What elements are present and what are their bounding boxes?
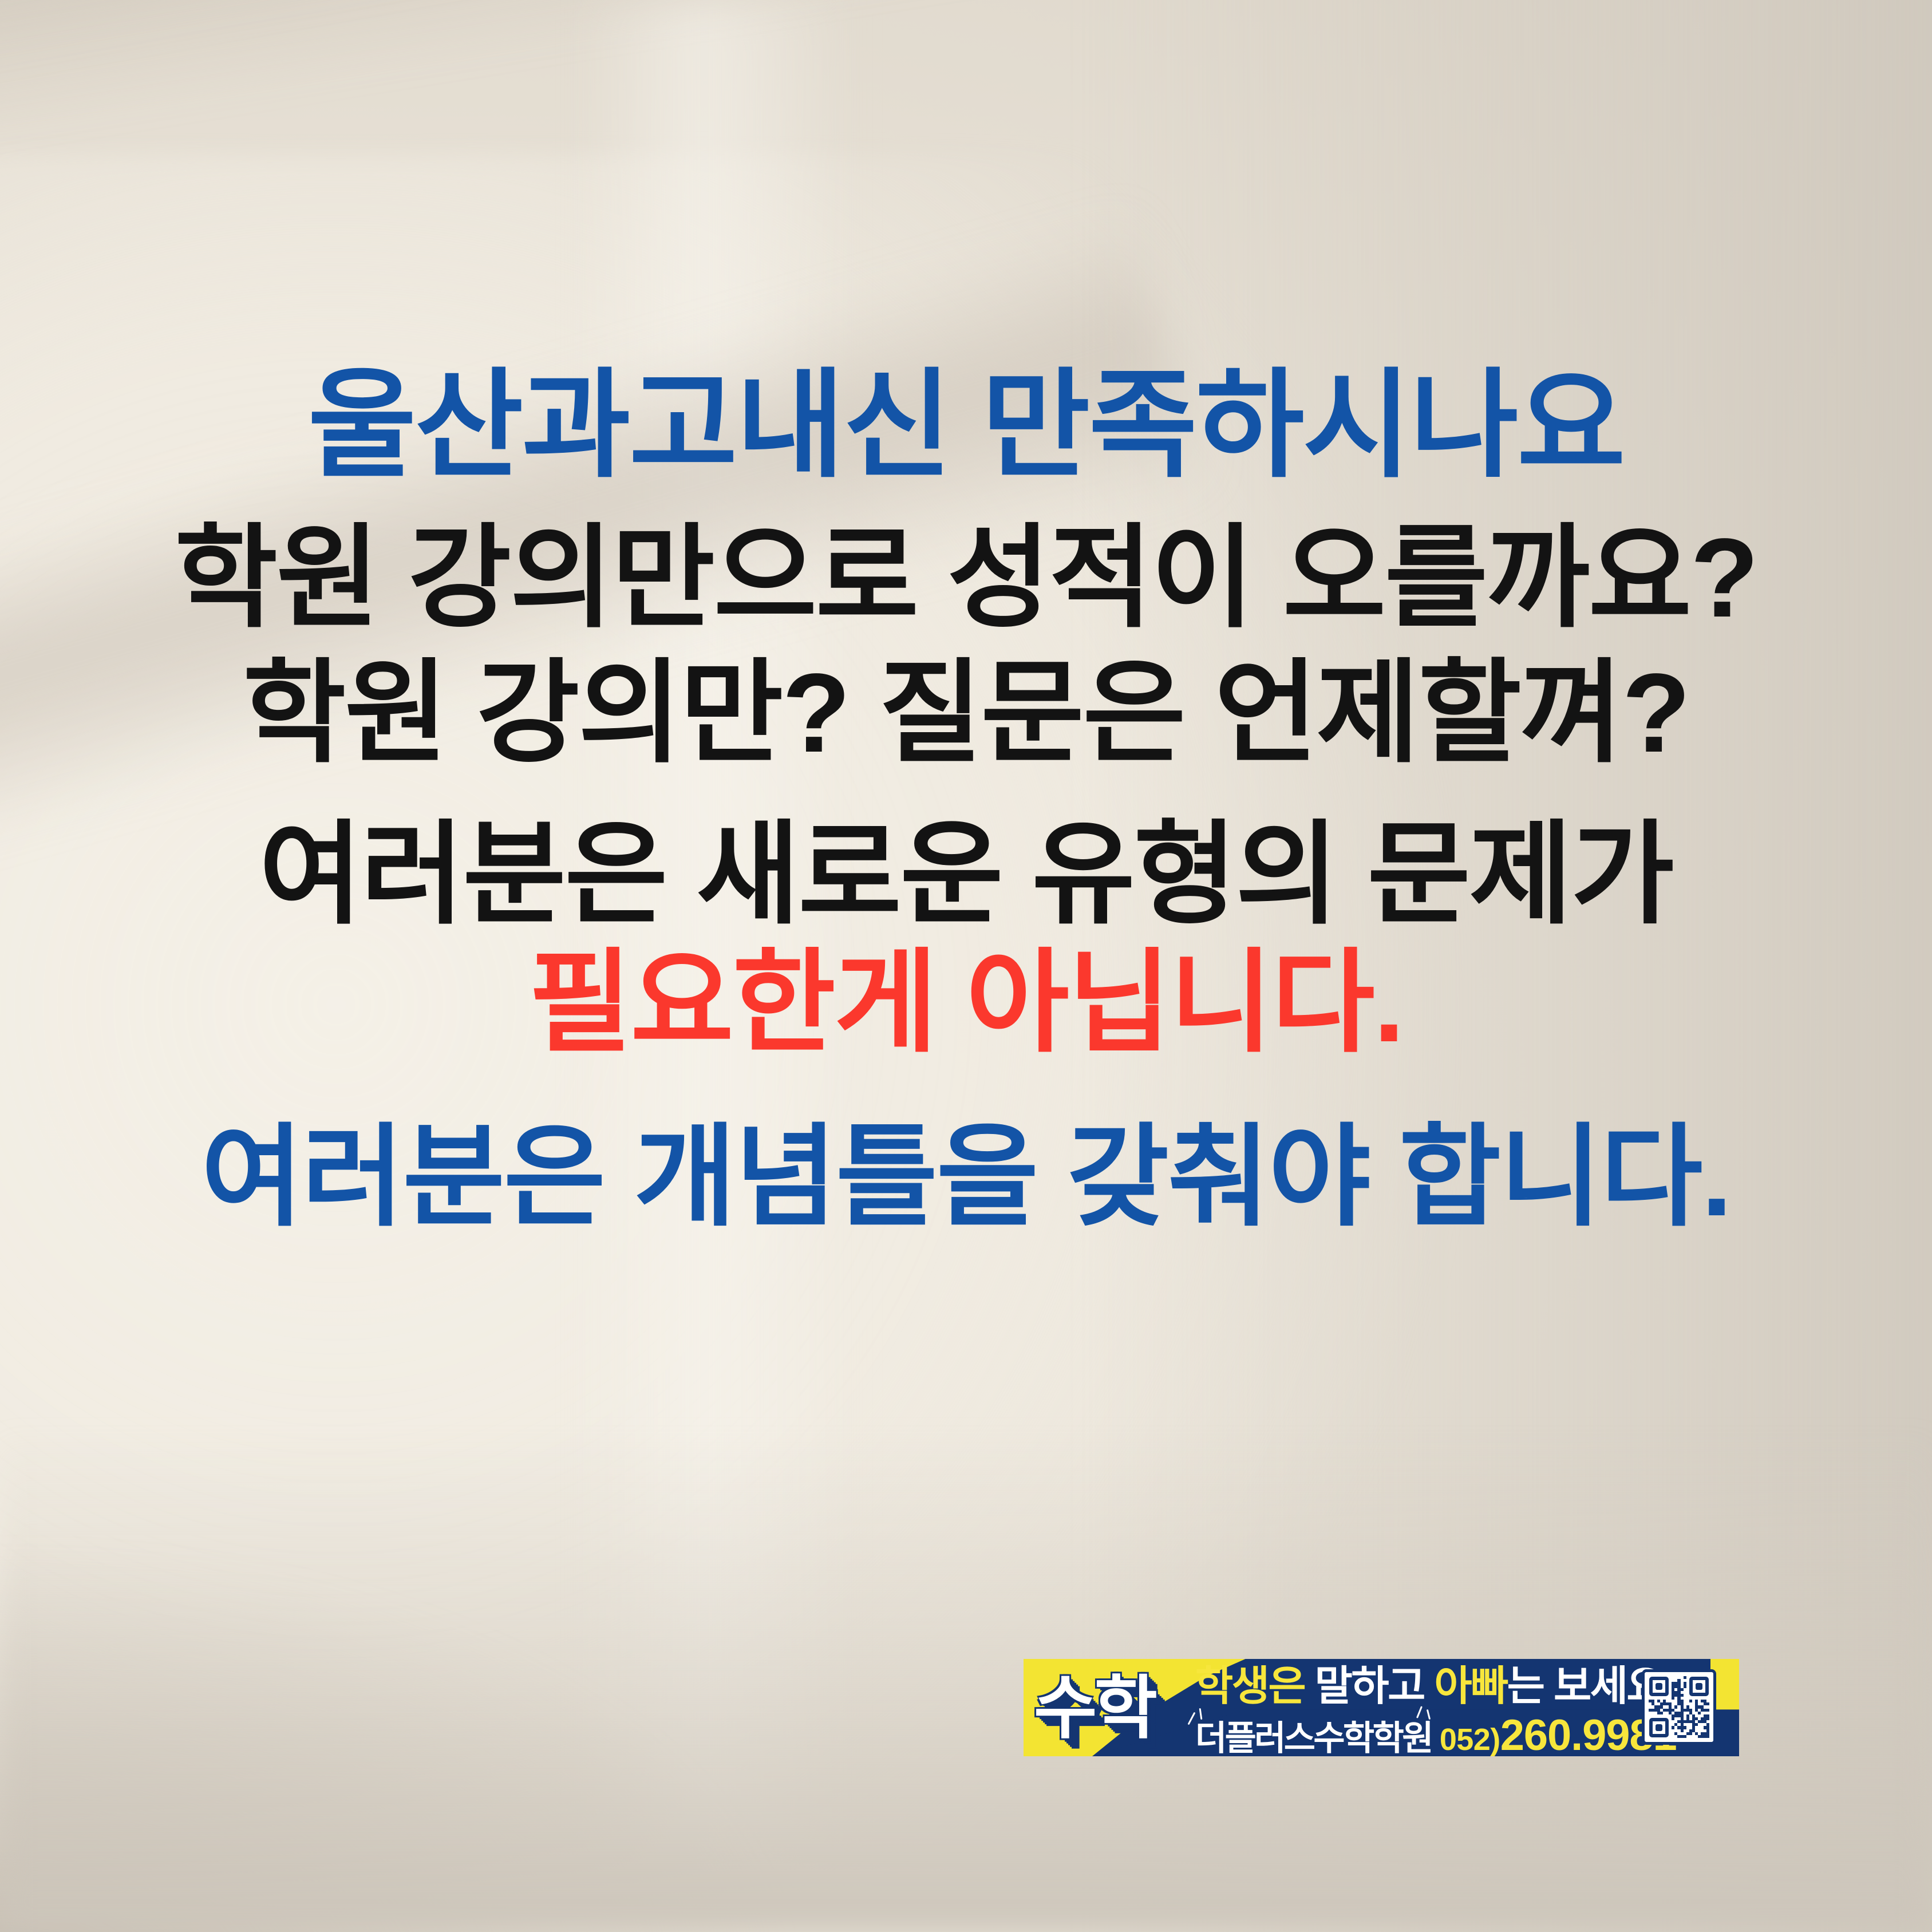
qr-finder-top-left xyxy=(1649,1677,1669,1696)
banner-slogan-part-2: 말하고 xyxy=(1315,1664,1424,1709)
banner-slogan-line: 학생은 말하고 아빠는 보세요 xyxy=(1195,1666,1663,1707)
banner-slogan-part-3: 아빠 xyxy=(1434,1664,1507,1709)
page-title: 울산과고내신 만족하시나요 xyxy=(308,366,1624,484)
emphasis-line-red: 필요한게 아닙니다. xyxy=(529,947,1404,1059)
banner-academy-name: 더플러스수학학원 xyxy=(1195,1721,1432,1756)
banner-logo-text: 수학 xyxy=(1034,1674,1155,1743)
academy-ad-banner[interactable]: 수학 학생은 말하고 아빠는 보세요 더플러스수학학원 052) 260.998… xyxy=(1024,1659,1739,1756)
qr-finder-top-right xyxy=(1689,1677,1709,1696)
banner-contact-line: 더플러스수학학원 052) 260.9981 xyxy=(1195,1714,1677,1756)
body-line-1: 여러분은 새로운 유형의 문제가 xyxy=(259,819,1673,931)
banner-slogan-part-1: 학생은 xyxy=(1195,1664,1305,1709)
poster-text-block: 울산과고내신 만족하시나요 학원 강의만으로 성적이 오를까요? 학원 강의만?… xyxy=(0,0,1932,1932)
banner-phone-prefix: 052) xyxy=(1440,1724,1500,1755)
banner-slogan-part-4: 는 보세요 xyxy=(1507,1664,1663,1709)
qr-code-icon[interactable] xyxy=(1642,1669,1716,1745)
banner-logo: 수학 xyxy=(1034,1662,1183,1754)
question-line-1: 학원 강의만으로 성적이 오를까요? xyxy=(175,522,1757,634)
qr-finder-bottom-left xyxy=(1649,1718,1669,1737)
conclusion-line: 여러분은 개념틀을 갖춰야 합니다. xyxy=(201,1122,1730,1233)
question-line-2: 학원 강의만? 질문은 언제할껴? xyxy=(243,657,1689,769)
